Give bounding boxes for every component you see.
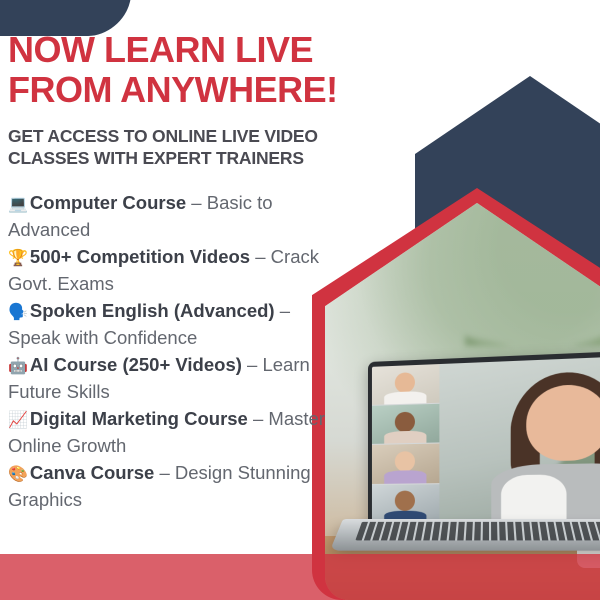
list-item: 🗣️Spoken English (Advanced) – Speak with…	[8, 298, 338, 351]
thumb-body	[384, 391, 426, 405]
list-item: 📈Digital Marketing Course – Master Onlin…	[8, 406, 338, 459]
list-item: 🏆500+ Competition Videos – Crack Govt. E…	[8, 244, 338, 297]
feature-list: 💻Computer Course – Basic to Advanced 🏆50…	[8, 190, 338, 513]
participant-thumbnail	[372, 444, 439, 485]
list-item: 🎨Canva Course – Design Stunning Graphics	[8, 460, 338, 513]
thumb-head	[395, 411, 415, 432]
subheading-line-2: CLASSES WITH EXPERT TRAINERS	[8, 148, 304, 168]
main-speaker-feed	[439, 356, 600, 524]
promo-poster: NOW LEARN LIVE FROM ANYWHERE! GET ACCESS…	[0, 0, 600, 600]
artist-palette-icon: 🎨	[8, 466, 28, 483]
participant-thumbnail	[372, 484, 439, 524]
feature-title: Computer Course	[30, 192, 186, 213]
thumb-body	[384, 470, 426, 483]
thumb-head	[395, 491, 415, 511]
bottom-red-band	[0, 554, 600, 600]
robot-icon: 🤖	[8, 358, 28, 375]
subheading-line-1: GET ACCESS TO ONLINE LIVE VIDEO	[8, 126, 318, 146]
list-item: 💻Computer Course – Basic to Advanced	[8, 190, 338, 243]
text-content: NOW LEARN LIVE FROM ANYWHERE! GET ACCESS…	[8, 30, 338, 514]
laptop-keyboard-base	[330, 519, 600, 551]
feature-title: Spoken English (Advanced)	[30, 300, 275, 321]
thumb-body	[384, 431, 426, 444]
page-title: NOW LEARN LIVE FROM ANYWHERE!	[8, 30, 338, 111]
participant-thumbnail	[372, 404, 439, 445]
laptop-keys	[356, 522, 600, 540]
speaking-head-icon: 🗣️	[8, 304, 28, 321]
speaker-shirt	[501, 474, 567, 523]
subheading: GET ACCESS TO ONLINE LIVE VIDEO CLASSES …	[8, 125, 338, 171]
thumb-head	[395, 372, 415, 393]
feature-title: Digital Marketing Course	[30, 408, 248, 429]
headline-line-2: FROM ANYWHERE!	[8, 70, 338, 110]
chart-increasing-icon: 📈	[8, 412, 28, 429]
laptop-icon: 💻	[8, 196, 28, 213]
feature-title: AI Course (250+ Videos)	[30, 354, 242, 375]
feature-title: Canva Course	[30, 462, 154, 483]
list-item: 🤖AI Course (250+ Videos) – Learn Future …	[8, 352, 338, 405]
participant-thumbnail-column	[372, 364, 439, 524]
thumb-head	[395, 451, 415, 472]
trophy-icon: 🏆	[8, 250, 28, 267]
participant-thumbnail	[372, 364, 439, 406]
headline-line-1: NOW LEARN LIVE	[8, 29, 313, 70]
laptop-screen-bezel	[368, 350, 600, 528]
feature-title: 500+ Competition Videos	[30, 246, 250, 267]
laptop-screen	[372, 356, 600, 524]
